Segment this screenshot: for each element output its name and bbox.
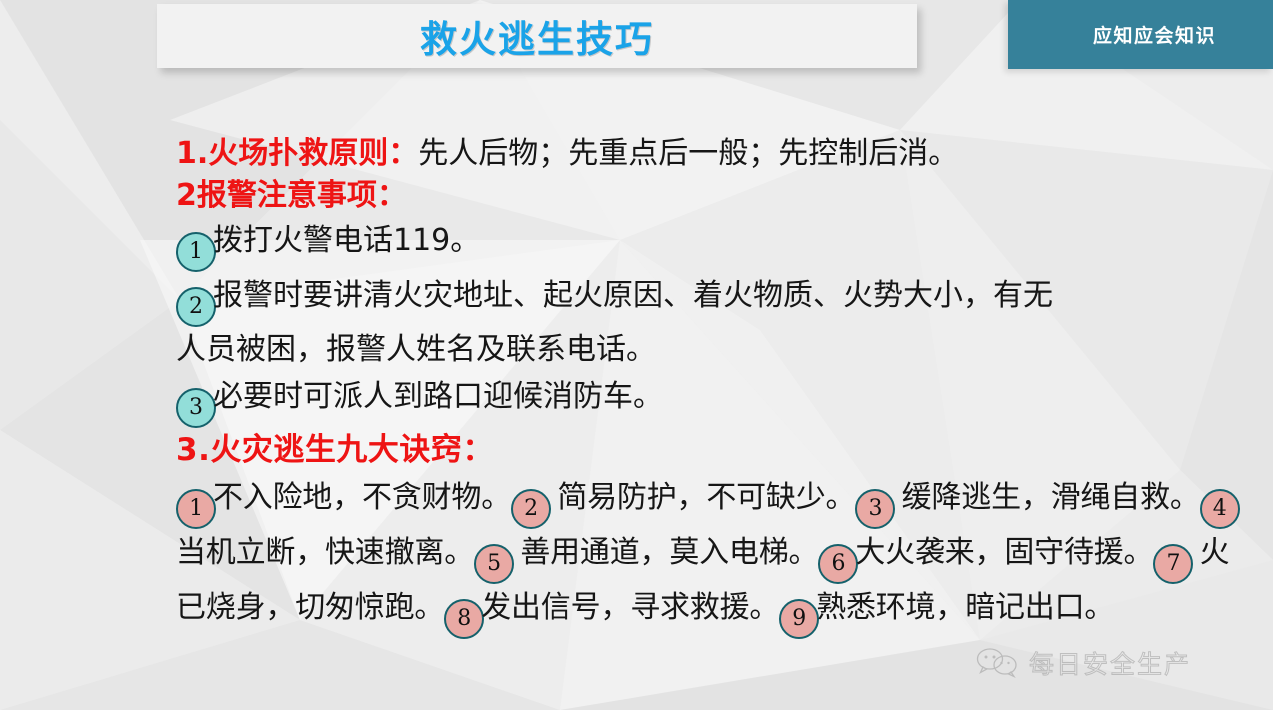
section-2-item-1: 1拨打火警电话119。 (176, 217, 1241, 272)
watermark-label: 每日安全生产 (1029, 645, 1191, 681)
section-2-item-2-continuation: 人员被困，报警人姓名及联系电话。 (176, 327, 1241, 373)
corner-badge-label: 应知应会知识 (1065, 21, 1216, 48)
section-2-heading: 2报警注意事项： (176, 178, 407, 213)
section-2-item-2-text-line1: 报警时要讲清火灾地址、起火原因、着火物质、火势大小，有无 (213, 278, 1053, 313)
tip-text: 大火袭来，固守待援。 (855, 535, 1153, 570)
list-number-circle: 1 (176, 232, 216, 272)
list-number-circle: 3 (176, 388, 216, 428)
page-title: 救火逃生技巧 (157, 4, 917, 68)
wechat-icon (976, 648, 1020, 678)
tip-number-circle: 1 (176, 489, 216, 529)
tip-text: 简易防护，不可缺少。 (548, 480, 855, 515)
tip-text: 善用通道，莫入电梯。 (511, 535, 818, 570)
section-3-tips-paragraph: 1不入险地，不贪财物。2 简易防护，不可缺少。3 缓降逃生，滑绳自救。4当机立断… (176, 474, 1241, 639)
section-2-item-2: 2报警时要讲清火灾地址、起火原因、着火物质、火势大小，有无 (176, 272, 1241, 327)
section-2-item-3-text: 必要时可派人到路口迎候消防车。 (213, 379, 663, 414)
tip-number-circle: 3 (855, 489, 895, 529)
section-1-line: 1.火场扑救原则：先人后物；先重点后一般；先控制后消。 (176, 133, 1241, 175)
tip-number-circle: 4 (1200, 489, 1240, 529)
tip-text: 不入险地，不贪财物。 (213, 480, 511, 515)
tip-text: 熟悉环境，暗记出口。 (816, 590, 1114, 625)
slide-content: 1.火场扑救原则：先人后物；先重点后一般；先控制后消。 2报警注意事项： 1拨打… (176, 133, 1241, 639)
section-2-heading-line: 2报警注意事项： (176, 175, 1241, 217)
tip-number-circle: 9 (779, 599, 819, 639)
tip-number-circle: 2 (511, 489, 551, 529)
watermark: 每日安全生产 (976, 645, 1191, 681)
tip-text: 缓降逃生，滑绳自救。 (892, 480, 1199, 515)
list-number-circle: 2 (176, 287, 216, 327)
section-2-item-3: 3必要时可派人到路口迎候消防车。 (176, 373, 1241, 428)
tip-number-circle: 7 (1153, 544, 1193, 584)
corner-badge: 应知应会知识 (1008, 0, 1273, 69)
tip-text: 发出信号，寻求救援。 (481, 590, 779, 625)
tip-text: 当机立断，快速撤离。 (176, 535, 474, 570)
tip-number-circle: 8 (444, 599, 484, 639)
section-2-item-2-text-line2: 人员被困，报警人姓名及联系电话。 (176, 332, 656, 367)
section-1-heading: 1.火场扑救原则： (176, 136, 418, 171)
section-3-heading: 3.火灾逃生九大诀窍： (176, 432, 494, 468)
section-3-heading-line: 3.火灾逃生九大诀窍： (176, 428, 1241, 474)
tip-number-circle: 6 (818, 544, 858, 584)
section-2-item-1-text: 拨打火警电话119。 (213, 223, 480, 258)
tip-number-circle: 5 (474, 544, 514, 584)
section-1-body: 先人后物；先重点后一般；先控制后消。 (418, 136, 958, 171)
slide-root: 救火逃生技巧 应知应会知识 1.火场扑救原则：先人后物；先重点后一般；先控制后消… (0, 0, 1273, 710)
